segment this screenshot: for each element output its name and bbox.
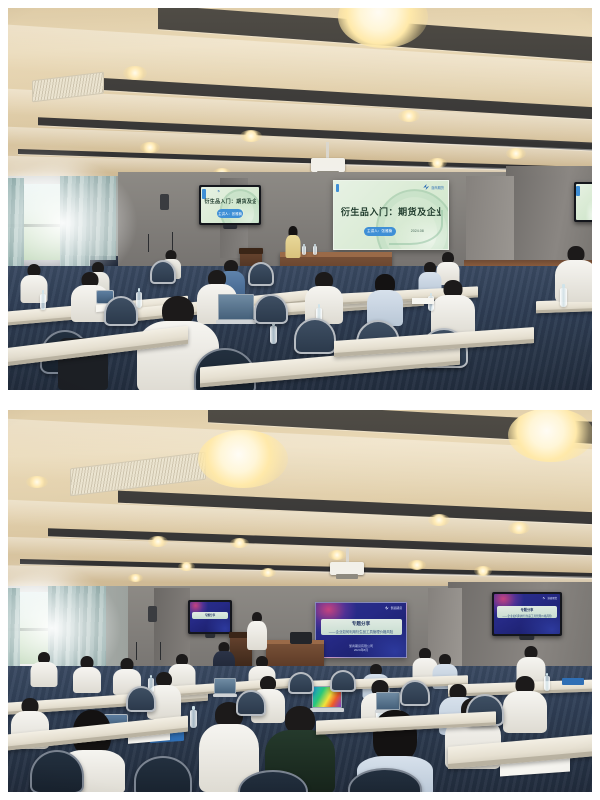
slide-title: 专题分享 — [352, 621, 370, 627]
left-wall-monitor: 衍生品入门：期货及企业应用 衍生品入门：期货及企业应用 主讲人：张雅楠 — [199, 185, 261, 225]
photo-page: 衍生品入门：期货及企业应用 衍生品入门：期货及企业应用 主讲人：张雅楠 浙商期货… — [0, 0, 600, 800]
monitor-stand — [223, 225, 237, 229]
wall-speaker — [160, 194, 169, 210]
chair — [330, 670, 356, 692]
slide-footer-line-2: 2024年8月 — [316, 648, 406, 653]
laptop-screen — [376, 692, 400, 710]
laptop-screen — [218, 294, 254, 320]
slide-subtitle: ——企业如何利用衍生品工具管理价格风险 — [502, 614, 551, 618]
slide-corner-mark — [336, 184, 339, 192]
chair — [288, 672, 314, 694]
curtain-right — [60, 176, 90, 268]
ceiling-downlight — [398, 110, 420, 122]
ceiling-downlight — [240, 130, 262, 142]
attendee-body — [73, 667, 101, 693]
attendee — [366, 274, 404, 326]
laptop-screen — [214, 678, 236, 694]
microphone-stand — [148, 234, 149, 252]
slide-title: 专题分享 — [521, 607, 534, 612]
slide-footer: 浙商期货有限公司 2024年8月 — [316, 644, 406, 653]
ceiling-downlight — [506, 148, 526, 159]
chair-back — [104, 296, 138, 326]
slide-title: 专题分享 — [205, 613, 215, 617]
monitor-stand — [519, 636, 534, 640]
presenter — [246, 612, 268, 650]
chair — [238, 770, 308, 792]
ceiling-downlight — [140, 142, 160, 153]
ceiling-downlight — [123, 66, 147, 80]
chair-back — [288, 672, 314, 694]
water-bottle — [40, 294, 46, 310]
chair-back — [134, 756, 192, 792]
chair — [400, 680, 430, 706]
chair-back — [348, 768, 422, 792]
chair — [134, 756, 192, 792]
slide-title: 衍生品入门：期货及企业应用 — [341, 205, 441, 218]
ceiling-dome-light — [508, 410, 592, 462]
chair-back — [248, 262, 274, 286]
slide-corner-mark — [576, 186, 580, 196]
main-projection-screen: 浙商期货 衍生品入门：期货及企业应用 主讲人：张雅楠 2024.08 — [333, 180, 449, 250]
podium-top — [239, 248, 263, 254]
ceiling-projector — [330, 562, 364, 575]
chair — [30, 750, 84, 792]
photo-top: 衍生品入门：期货及企业应用 衍生品入门：期货及企业应用 主讲人：张雅楠 浙商期货… — [8, 8, 592, 390]
slide-logo-mark — [542, 597, 545, 600]
slide-presenter-pill: 主讲人：张雅楠 — [364, 227, 396, 236]
chair — [236, 690, 266, 716]
paper-handout — [412, 298, 434, 304]
attendee-body — [503, 691, 547, 733]
slide-logo: 浙商期货 — [542, 596, 557, 600]
monitor-stand — [205, 634, 215, 638]
attendee — [502, 676, 548, 732]
slide-logo-text: 浙商期货 — [547, 596, 557, 600]
chair — [348, 768, 422, 792]
water-bottle — [313, 246, 317, 255]
slide-subtitle: ——企业如何利用衍生品工具管理价格风险 — [329, 629, 393, 634]
chair-back — [254, 294, 288, 324]
slide-logo-text: 浙商期货 — [431, 185, 444, 190]
chair — [104, 296, 138, 326]
curtain-right — [90, 176, 116, 260]
right-wall-monitor-screen: 浙商期货 专题分享 ——企业如何利用衍生品工具管理价格风险 — [494, 594, 560, 634]
right-wall-monitor — [574, 182, 592, 222]
presenter-body — [247, 621, 267, 650]
slide-subtitle: 2024.08 — [405, 229, 430, 233]
chair-back — [294, 318, 336, 354]
ceiling-downlight — [178, 562, 195, 571]
slide-title-band: 专题分享 ——企业如何利用衍生品工具管理价格风险 — [321, 619, 402, 635]
right-wall-monitor-screen — [576, 184, 592, 220]
slide-logo-mark — [385, 606, 389, 610]
laptop-base — [216, 320, 256, 324]
ceiling-downlight — [328, 550, 346, 560]
ceiling-downlight — [260, 568, 276, 577]
laptop — [218, 294, 254, 320]
slide-title-band: 专题分享 ——企业如何利用衍生品工具管理价格风险 — [497, 606, 556, 618]
chair — [254, 294, 288, 324]
wall-speaker — [148, 606, 157, 622]
presenter — [284, 226, 302, 258]
presenter-body — [286, 235, 301, 258]
chair-back — [126, 686, 156, 712]
slide-presenter-pill: 主讲人：张雅楠 — [217, 209, 243, 218]
slide-logo-mark — [423, 184, 429, 190]
slide-logo-mark — [217, 190, 220, 193]
ceiling-downlight — [428, 158, 447, 168]
blue-folder — [562, 678, 584, 685]
ceiling-downlight — [148, 536, 168, 547]
slide-title: 衍生品入门：期货及企业应用 — [204, 198, 255, 205]
conference-room-scene-bottom: 专题分享 浙商期货 专题分享 ——企业如何利用衍生品工具管理价格风险 浙商期货有… — [8, 410, 592, 792]
water-bottle — [544, 676, 550, 691]
attendee — [304, 272, 344, 324]
curtain-left — [8, 588, 20, 674]
water-bottle — [270, 326, 277, 344]
slide-logo: 浙商期货 — [423, 184, 444, 190]
ceiling-downlight — [230, 538, 249, 548]
chair — [126, 686, 156, 712]
ceiling-dome-light — [198, 430, 288, 488]
slide-logo: 浙商期货 — [385, 606, 402, 610]
chair — [150, 260, 176, 284]
right-wall-monitor: 浙商期货 专题分享 ——企业如何利用衍生品工具管理价格风险 — [492, 592, 562, 636]
ceiling-downlight — [26, 476, 48, 488]
slide-title-band: 专题分享 — [192, 612, 228, 620]
attendee — [30, 652, 58, 686]
ceiling-downlight — [408, 560, 426, 570]
laptop — [376, 692, 400, 710]
water-bottle — [560, 288, 567, 307]
water-bottle — [190, 710, 197, 728]
photo-bottom: 专题分享 浙商期货 专题分享 ——企业如何利用衍生品工具管理价格风险 浙商期货有… — [8, 410, 592, 792]
chair-back — [150, 260, 176, 284]
av-equipment — [290, 632, 312, 644]
conference-room-scene-top: 衍生品入门：期货及企业应用 衍生品入门：期货及企业应用 主讲人：张雅楠 浙商期货… — [8, 8, 592, 390]
curtain-left — [8, 178, 24, 270]
laptop — [214, 678, 236, 694]
ceiling-downlight — [474, 566, 492, 576]
attendee-body — [31, 662, 58, 687]
ceiling-downlight — [128, 574, 143, 582]
slide-logo-text: 浙商期货 — [391, 606, 402, 610]
chair-back — [236, 690, 266, 716]
left-wall-monitor-screen: 衍生品入门：期货及企业应用 衍生品入门：期货及企业应用 主讲人：张雅楠 — [201, 187, 259, 223]
laptop-base — [213, 694, 238, 697]
chair-back — [30, 750, 84, 792]
chair-back — [330, 670, 356, 692]
attendee — [72, 656, 102, 692]
water-bottle — [302, 246, 306, 255]
chair — [248, 262, 274, 286]
main-projection-screen: 浙商期货 专题分享 ——企业如何利用衍生品工具管理价格风险 浙商期货有限公司 2… — [315, 602, 407, 658]
chair-back — [238, 770, 308, 792]
ceiling-downlight — [428, 514, 450, 526]
left-wall-monitor: 专题分享 — [188, 600, 232, 634]
ceiling-projector — [311, 158, 345, 172]
chair — [294, 318, 336, 354]
left-wall-monitor-screen: 专题分享 — [190, 602, 230, 632]
chair-back — [400, 680, 430, 706]
ceiling-downlight — [508, 522, 530, 534]
microphone-stand — [160, 642, 161, 660]
slide-logo: 衍生品入门：期货及企业应用 — [217, 189, 256, 193]
microphone-stand — [172, 232, 173, 250]
